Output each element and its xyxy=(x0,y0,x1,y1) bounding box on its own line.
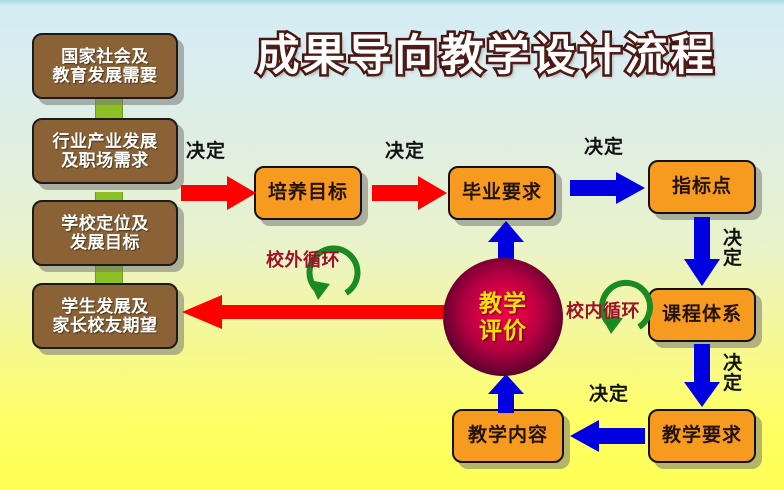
loop-label-external-circulation: 校外循环 xyxy=(266,246,340,272)
flow-box-label: 培养目标 xyxy=(268,182,348,203)
page-title: 成果导向教学设计流程 xyxy=(214,23,759,81)
edge-label-decide-2: 决定 xyxy=(385,142,425,162)
left-box-student-expectation[interactable]: 学生发展及 家长校友期望 xyxy=(32,283,178,349)
flow-box-label: 课程体系 xyxy=(662,304,742,325)
arrow-blue-teaching-req-to-content xyxy=(570,419,646,453)
diagram-canvas: 成果导向教学设计流程 国家社会及 教育发展需要 行业产业发展 及职场需求 学校定… xyxy=(0,0,784,490)
flow-box-label: 教学要求 xyxy=(662,425,742,446)
flow-box-graduation-requirement[interactable]: 毕业要求 xyxy=(448,166,556,220)
left-box-national-needs[interactable]: 国家社会及 教育发展需要 xyxy=(32,33,178,99)
flow-box-training-goal[interactable]: 培养目标 xyxy=(254,166,362,220)
center-node-evaluation[interactable]: 教学 评价 xyxy=(443,258,563,376)
flow-box-teaching-requirement[interactable]: 教学要求 xyxy=(648,409,756,463)
flow-box-course-system[interactable]: 课程体系 xyxy=(648,288,756,342)
left-box-school-positioning[interactable]: 学校定位及 发展目标 xyxy=(32,200,178,266)
flow-box-teaching-content[interactable]: 教学内容 xyxy=(452,409,564,463)
left-box-label: 国家社会及 教育发展需要 xyxy=(53,47,158,85)
flow-box-label: 指标点 xyxy=(672,176,732,197)
left-box-label: 行业产业发展 及职场需求 xyxy=(53,132,158,170)
flow-box-label: 毕业要求 xyxy=(462,182,542,203)
edge-label-decide-5: 决 定 xyxy=(723,354,743,394)
left-box-label: 学生发展及 家长校友期望 xyxy=(53,297,158,335)
loop-label-internal-circulation: 校内循环 xyxy=(566,297,640,323)
center-node-label: 教学 评价 xyxy=(479,290,527,344)
arrow-blue-index-to-course xyxy=(683,217,721,287)
left-box-industry-needs[interactable]: 行业产业发展 及职场需求 xyxy=(32,118,178,184)
arrow-red-to-graduation-requirement xyxy=(372,175,448,211)
edge-label-decide-1: 决定 xyxy=(186,142,226,162)
arrow-blue-to-index-point xyxy=(570,171,646,205)
edge-label-decide-4: 决 定 xyxy=(723,229,743,269)
arrow-red-to-training-goal xyxy=(181,175,257,211)
arrow-blue-content-to-evaluation xyxy=(487,374,525,414)
flow-box-label: 教学内容 xyxy=(468,425,548,446)
arrow-blue-course-to-teaching-req xyxy=(683,344,721,408)
flow-box-index-point[interactable]: 指标点 xyxy=(648,160,756,214)
left-box-label: 学校定位及 发展目标 xyxy=(61,214,149,252)
edge-label-decide-6: 决定 xyxy=(589,385,629,405)
edge-label-decide-3: 决定 xyxy=(584,138,624,158)
arrow-blue-evaluation-to-graduation-req xyxy=(487,221,525,263)
